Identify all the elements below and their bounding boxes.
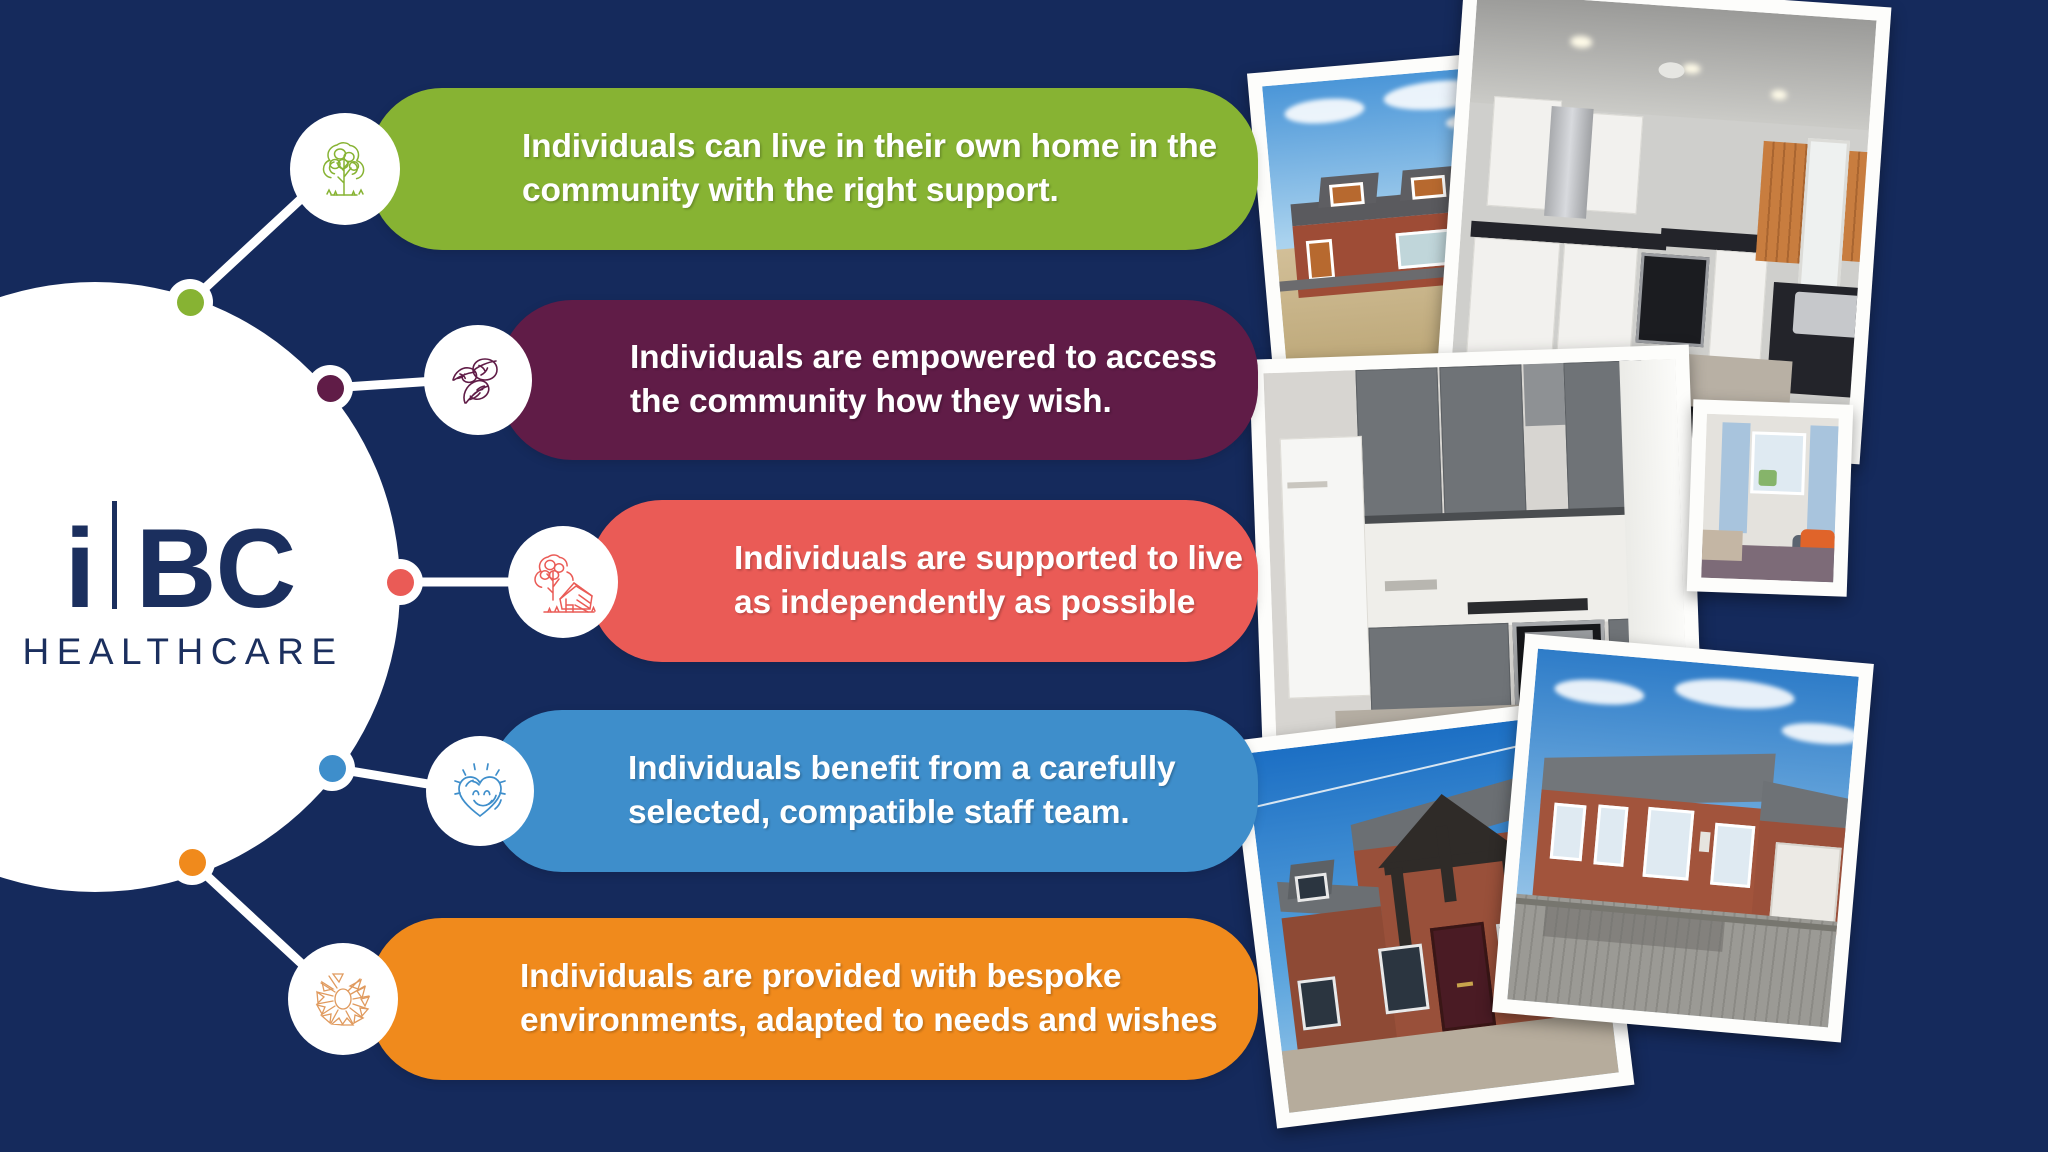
infographic-canvas: i BC HEALTHCARE Individuals can live in … bbox=[0, 0, 2048, 1152]
photo-living-room bbox=[1687, 399, 1854, 596]
statement-pill-staff-team[interactable]: Individuals benefit from a carefully sel… bbox=[490, 710, 1258, 872]
logo-wordmark: i BC bbox=[65, 501, 296, 615]
house-tree-icon bbox=[524, 543, 602, 621]
node-dot-color-swatch bbox=[177, 289, 204, 316]
photo-collage bbox=[1270, 0, 2048, 1152]
node-dot-empowered-access[interactable] bbox=[307, 365, 353, 411]
statement-pill-bespoke-environments[interactable]: Individuals are provided with bespoke en… bbox=[370, 918, 1258, 1080]
logo-subtitle: HEALTHCARE bbox=[22, 631, 343, 673]
sunburst-icon bbox=[304, 960, 382, 1038]
logo-letters-bc: BC bbox=[136, 523, 296, 615]
node-dot-independent-living[interactable] bbox=[377, 559, 423, 605]
statement-badge-empowered-access[interactable] bbox=[424, 325, 532, 435]
node-dot-staff-team[interactable] bbox=[309, 745, 355, 791]
statement-badge-own-home[interactable] bbox=[290, 113, 400, 225]
node-dot-color-swatch bbox=[387, 569, 414, 596]
statement-badge-independent-living[interactable] bbox=[508, 526, 618, 638]
statement-badge-bespoke-environments[interactable] bbox=[288, 943, 398, 1055]
tree-icon bbox=[307, 131, 383, 207]
statement-text-empowered-access: Individuals are empowered to access the … bbox=[630, 336, 1217, 423]
statement-text-independent-living: Individuals are supported to live as ind… bbox=[734, 537, 1243, 624]
node-dot-bespoke-environments[interactable] bbox=[169, 839, 215, 885]
statement-text-staff-team: Individuals benefit from a carefully sel… bbox=[628, 747, 1175, 834]
photo-bungalow-garage bbox=[1492, 633, 1874, 1042]
statement-text-bespoke-environments: Individuals are provided with bespoke en… bbox=[520, 955, 1218, 1042]
statement-badge-staff-team[interactable] bbox=[426, 736, 534, 846]
statement-pill-independent-living[interactable]: Individuals are supported to live as ind… bbox=[590, 500, 1258, 662]
logo-divider-bar bbox=[112, 501, 117, 609]
statement-pill-empowered-access[interactable]: Individuals are empowered to access the … bbox=[500, 300, 1258, 460]
node-dot-own-home[interactable] bbox=[167, 279, 213, 325]
node-dot-color-swatch bbox=[319, 755, 346, 782]
statement-text-own-home: Individuals can live in their own home i… bbox=[522, 125, 1217, 212]
smiling-heart-icon bbox=[443, 754, 517, 828]
node-dot-color-swatch bbox=[179, 849, 206, 876]
leaves-icon bbox=[441, 343, 515, 417]
statement-pill-own-home[interactable]: Individuals can live in their own home i… bbox=[370, 88, 1258, 250]
node-dot-color-swatch bbox=[317, 375, 344, 402]
logo-letter-i: i bbox=[65, 523, 94, 615]
